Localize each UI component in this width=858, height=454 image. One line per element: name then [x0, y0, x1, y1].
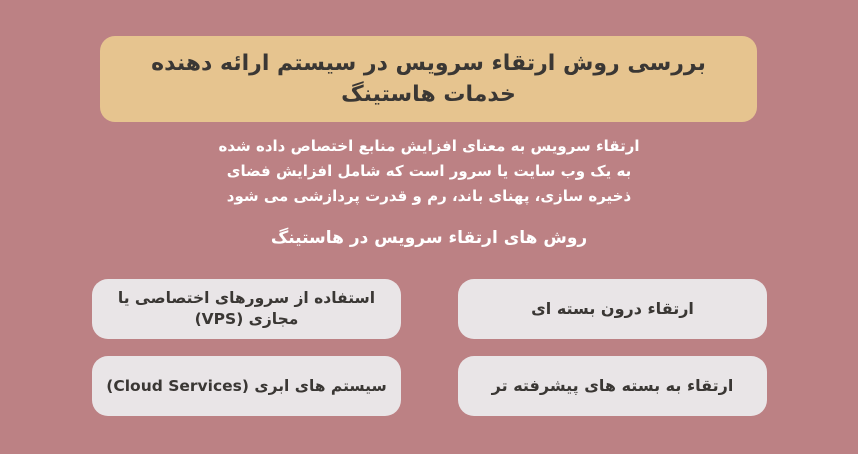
intro-line-1: ارتقاء سرویس به معنای افزایش منابع اختصا… [129, 134, 729, 159]
intro-line-2: به یک وب سایت یا سرور است که شامل افزایش… [129, 159, 729, 184]
section-heading: روش های ارتقاء سرویس در هاستینگ [129, 228, 729, 248]
method-card-label: سیستم های ابری (Cloud Services) [106, 376, 386, 397]
method-card-higher-tier-package[interactable]: ارتقاء به بسته های پیشرفته تر [458, 356, 767, 416]
method-card-label: ارتقاء به بسته های پیشرفته تر [492, 375, 734, 397]
page-title: بررسی روش ارتقاء سرویس در سیستم ارائه ده… [126, 48, 731, 110]
method-card-in-package-upgrade[interactable]: ارتقاء درون بسته ای [458, 279, 767, 339]
method-card-label: استفاده از سرورهای اختصاصی یا مجازی (VPS… [106, 288, 387, 330]
intro-paragraph: ارتقاء سرویس به معنای افزایش منابع اختصا… [129, 134, 729, 208]
slide-canvas: بررسی روش ارتقاء سرویس در سیستم ارائه ده… [0, 0, 858, 454]
methods-grid: ارتقاء درون بسته ای استفاده از سرورهای ا… [92, 279, 767, 416]
method-card-dedicated-or-vps[interactable]: استفاده از سرورهای اختصاصی یا مجازی (VPS… [92, 279, 401, 339]
intro-line-3: ذخیره سازی، پهنای باند، رم و قدرت پردازش… [129, 184, 729, 209]
method-card-cloud-services[interactable]: سیستم های ابری (Cloud Services) [92, 356, 401, 416]
method-card-label: ارتقاء درون بسته ای [531, 298, 694, 320]
title-banner: بررسی روش ارتقاء سرویس در سیستم ارائه ده… [100, 36, 757, 122]
